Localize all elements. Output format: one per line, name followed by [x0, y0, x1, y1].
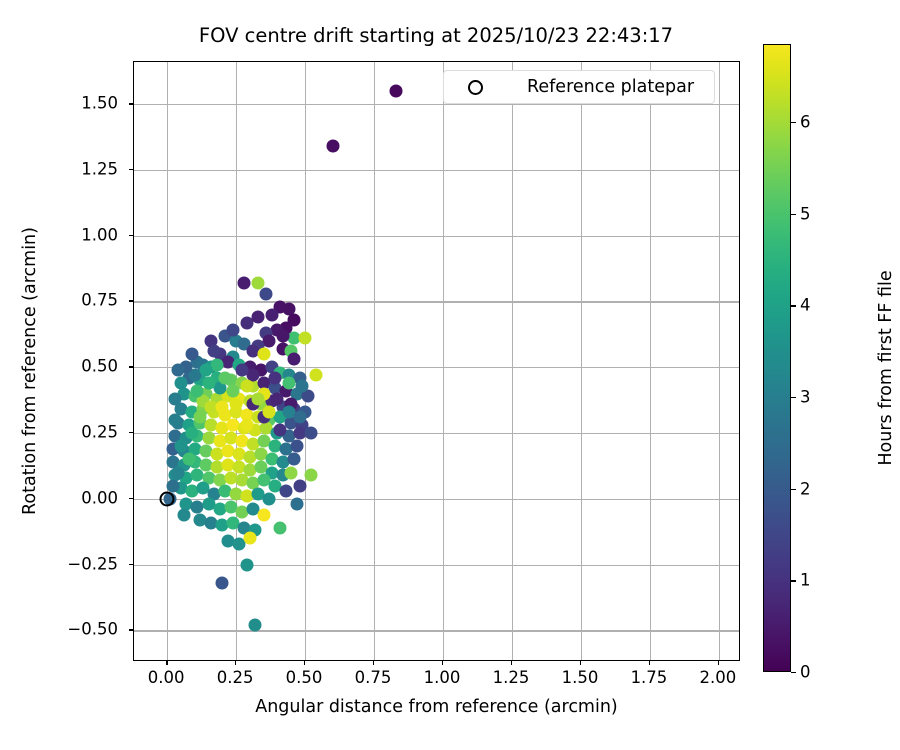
x-tick-label: 1.00: [424, 668, 461, 687]
x-tick-label: 1.75: [631, 668, 668, 687]
y-tick-label: −0.25: [0, 554, 118, 573]
y-tick-mark: [129, 629, 133, 630]
y-tick-mark: [129, 235, 133, 236]
colorbar-tick-label: 1: [800, 571, 811, 590]
reference-platepar-marker: [160, 491, 175, 506]
figure-canvas: FOV centre drift starting at 2025/10/23 …: [0, 0, 900, 750]
scatter-plot-axes: [133, 61, 740, 661]
colorbar-tick-label: 0: [800, 663, 811, 682]
x-tick-mark: [304, 661, 305, 665]
x-tick-mark: [511, 661, 512, 665]
y-tick-label: 1.25: [0, 159, 118, 178]
colorbar-tick-mark: [791, 214, 796, 215]
colorbar-tick-mark: [791, 305, 796, 306]
y-tick-label: 0.00: [0, 488, 118, 507]
x-tick-label: 2.00: [700, 668, 737, 687]
x-tick-mark: [718, 661, 719, 665]
x-tick-mark: [580, 661, 581, 665]
colorbar-tick-label: 6: [800, 112, 811, 131]
y-tick-mark: [129, 169, 133, 170]
x-tick-label: 0.00: [148, 668, 185, 687]
reference-marker-layer: [134, 62, 739, 660]
x-tick-label: 0.25: [217, 668, 254, 687]
x-tick-mark: [166, 661, 167, 665]
y-tick-mark: [129, 564, 133, 565]
colorbar-tick-mark: [791, 397, 796, 398]
y-tick-mark: [129, 498, 133, 499]
page-title: FOV centre drift starting at 2025/10/23 …: [130, 24, 742, 47]
y-tick-label: 0.50: [0, 357, 118, 376]
colorbar-tick-label: 3: [800, 387, 811, 406]
x-tick-label: 1.25: [493, 668, 530, 687]
y-tick-label: −0.50: [0, 620, 118, 639]
y-tick-mark: [129, 300, 133, 301]
y-tick-mark: [129, 432, 133, 433]
x-tick-label: 0.50: [286, 668, 323, 687]
legend: Reference platepar: [443, 70, 715, 104]
y-tick-label: 1.00: [0, 225, 118, 244]
colorbar-tick-mark: [791, 489, 796, 490]
colorbar-gradient: [763, 44, 791, 672]
colorbar-tick-mark: [791, 672, 796, 673]
y-tick-mark: [129, 103, 133, 104]
x-tick-mark: [235, 661, 236, 665]
x-tick-label: 1.50: [562, 668, 599, 687]
colorbar-label: Hours from first FF file: [876, 188, 896, 548]
x-tick-label: 0.75: [355, 668, 392, 687]
colorbar-tick-label: 2: [800, 479, 811, 498]
y-axis-ticks: −0.50−0.250.000.250.500.751.001.251.50: [0, 0, 124, 750]
x-axis-label: Angular distance from reference (arcmin): [133, 697, 740, 717]
colorbar-tick-label: 5: [800, 204, 811, 223]
y-axis-label: Rotation from reference (arcmin): [20, 221, 40, 521]
y-tick-label: 1.50: [0, 94, 118, 113]
x-tick-mark: [373, 661, 374, 665]
colorbar-tick-mark: [791, 122, 796, 123]
y-tick-label: 0.75: [0, 291, 118, 310]
x-tick-mark: [442, 661, 443, 665]
x-tick-mark: [649, 661, 650, 665]
legend-open-circle-icon: [468, 80, 483, 95]
colorbar-tick-mark: [791, 580, 796, 581]
legend-entry-label: Reference platepar: [527, 77, 694, 97]
y-tick-mark: [129, 366, 133, 367]
colorbar-tick-label: 4: [800, 296, 811, 315]
y-tick-label: 0.25: [0, 423, 118, 442]
